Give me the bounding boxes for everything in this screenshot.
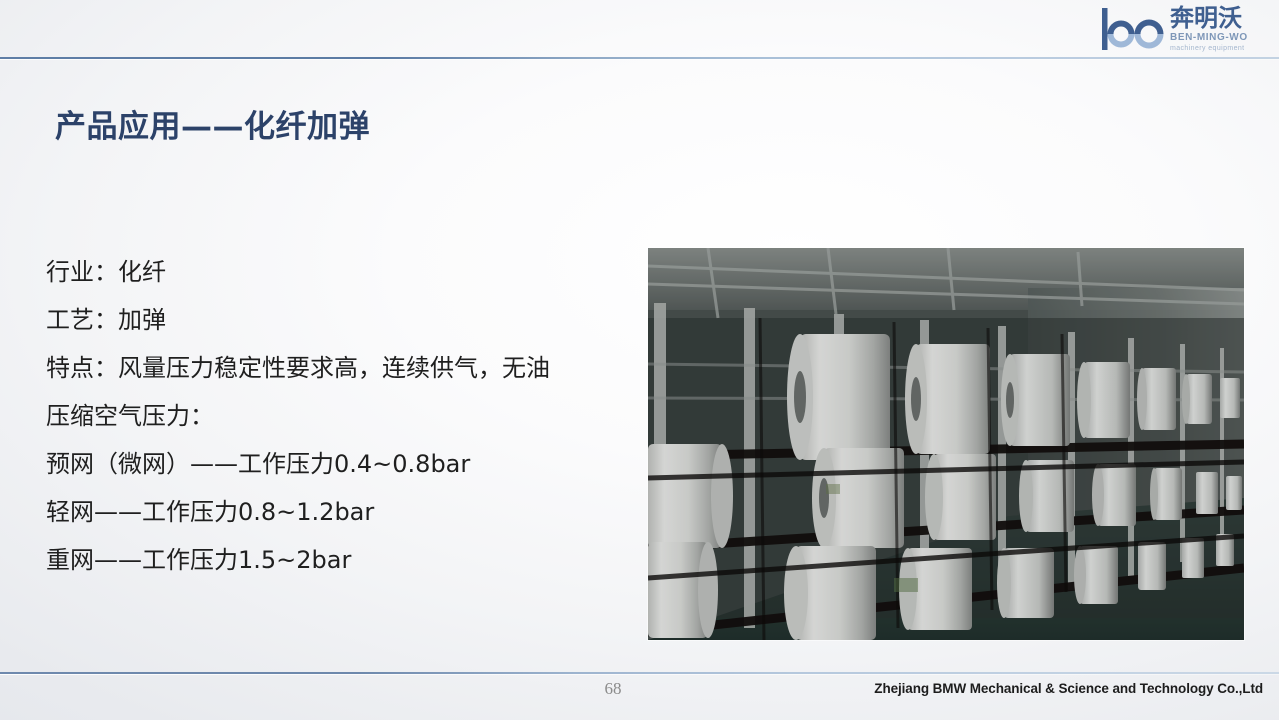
body-line-pressure-heading: 压缩空气压力：	[46, 392, 626, 440]
company-logo: 奔明沃 BEN-MING-WO machinery equipment	[1101, 2, 1273, 56]
logo-chinese-name: 奔明沃	[1170, 6, 1248, 30]
logo-tagline: machinery equipment	[1170, 45, 1248, 53]
body-line-process: 工艺：加弹	[46, 296, 626, 344]
bo-monogram-icon	[1101, 7, 1167, 51]
body-line-features: 特点：风量压力稳定性要求高，连续供气，无油	[46, 344, 626, 392]
header-divider-highlight	[0, 59, 1279, 60]
footer-company-name: Zhejiang BMW Mechanical & Science and Te…	[874, 681, 1263, 696]
logo-english-name: BEN-MING-WO	[1170, 32, 1248, 44]
slide: 奔明沃 BEN-MING-WO machinery equipment 产品应用…	[0, 0, 1279, 720]
logo-wordmark: 奔明沃 BEN-MING-WO machinery equipment	[1170, 6, 1248, 53]
body-line-light-network: 轻网——工作压力0.8~1.2bar	[46, 488, 626, 536]
content-text-block: 行业：化纤 工艺：加弹 特点：风量压力稳定性要求高，连续供气，无油 压缩空气压力…	[46, 248, 626, 584]
slide-header	[0, 0, 1279, 58]
body-line-industry: 行业：化纤	[46, 248, 626, 296]
footer-divider-highlight	[0, 674, 1279, 675]
body-line-pre-network: 预网（微网）——工作压力0.4~0.8bar	[46, 440, 626, 488]
page-title: 产品应用——化纤加弹	[55, 101, 370, 146]
body-line-heavy-network: 重网——工作压力1.5~2bar	[46, 536, 626, 584]
factory-yarn-bobbins-photo	[648, 248, 1244, 640]
page-number: 68	[598, 679, 628, 699]
